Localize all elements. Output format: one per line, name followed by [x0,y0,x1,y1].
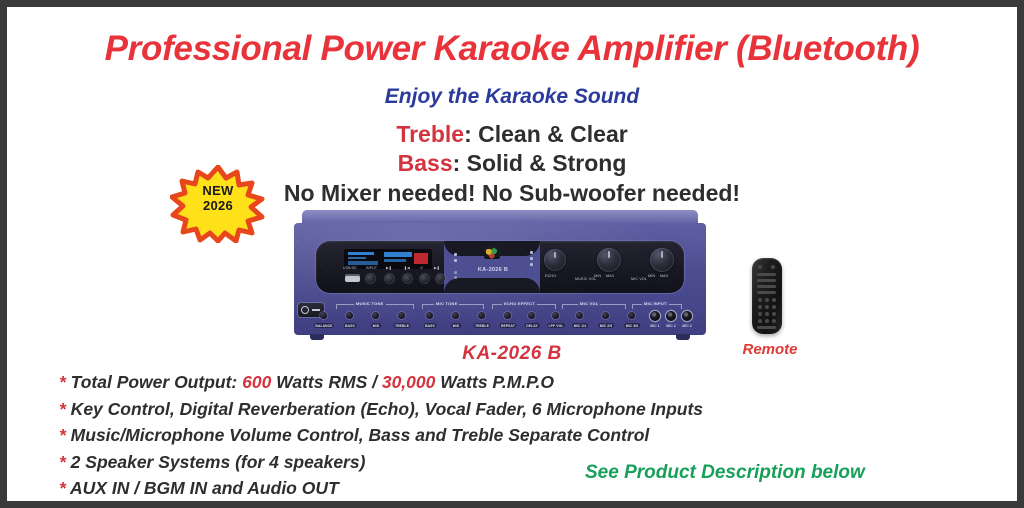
badge-text: NEW 2026 [170,184,266,213]
feature-item: * Music/Microphone Volume Control, Bass … [59,422,759,449]
model-caption: KA-2026 B [7,343,1017,365]
feature-text: Key Control, Digital Reverberation (Echo… [66,399,703,419]
bass-line: Bass: Solid & Strong [7,149,1017,178]
bullet-asterisk-icon: * [59,478,66,498]
knob-echo-repeat[interactable] [504,312,511,319]
amplifier-product-image: USB/SD INPUT ▶❚ ❚◀ ↺ ▶❚ KA-2026 B ECHO M… [294,210,706,340]
new-2026-badge: NEW 2026 [170,165,266,243]
feature-text: 2 Speaker Systems (for 4 speakers) [66,452,366,472]
amplifier-foot-right [676,334,690,340]
knob-mic3-vol[interactable] [628,312,635,319]
knob-music-volume[interactable] [597,248,621,272]
knob-balance[interactable] [320,312,327,319]
knob-mic-treble[interactable] [478,312,485,319]
amplifier-foot-left [310,334,324,340]
subtitle: Enjoy the Karaoke Sound [7,85,1017,109]
bullet-asterisk-icon: * [59,399,66,419]
feature-text: Watts RMS / [271,372,382,392]
treble-line: Treble: Clean & Clear [7,120,1017,149]
banner-canvas: Professional Power Karaoke Amplifier (Bl… [7,7,1017,501]
media-button-repeat[interactable] [420,274,429,283]
feature-item: * Total Power Output: 600 Watts RMS / 30… [59,369,759,396]
treble-label: Treble [396,121,464,147]
feature-highlight-value: 30,000 [382,372,436,392]
see-description-text: See Product Description below [585,462,865,484]
badge-line-2: 2026 [170,199,266,214]
knob-mic-mid[interactable] [452,312,459,319]
treble-value: : Clean & Clear [464,121,628,147]
sound-spec-lines: Treble: Clean & Clear Bass: Solid & Stro… [7,120,1017,208]
bullet-asterisk-icon: * [59,372,66,392]
usb-port[interactable] [345,274,360,282]
feature-text: Watts P.M.P.O [435,372,554,392]
media-button-play[interactable] [385,274,394,283]
knob-mic-bass[interactable] [426,312,433,319]
feature-text: Music/Microphone Volume Control, Bass an… [66,425,649,445]
mic-input-jack-3[interactable] [682,311,692,321]
mic-input-jack-2[interactable] [666,311,676,321]
media-button-next[interactable] [436,274,445,283]
knob-mic1-vol[interactable] [576,312,583,319]
brand-logo-icon [484,247,500,259]
page-title: Professional Power Karaoke Amplifier (Bl… [7,29,1017,69]
mic-input-jack-1[interactable] [650,311,660,321]
knob-echo-delay[interactable] [528,312,535,319]
feature-text: Total Power Output: [66,372,242,392]
media-button-input[interactable] [366,274,375,283]
advertisement-banner: Professional Power Karaoke Amplifier (Bl… [0,0,1024,508]
bullet-asterisk-icon: * [59,452,66,472]
remote-control-image: Remote [752,258,788,340]
knob-music-mid[interactable] [372,312,379,319]
front-panel-model-text: KA-2026 B [464,267,522,273]
feature-item: * Key Control, Digital Reverberation (Ec… [59,396,759,423]
knob-mic2-vol[interactable] [602,312,609,319]
bullet-asterisk-icon: * [59,425,66,445]
knob-music-treble[interactable] [398,312,405,319]
badge-line-1: NEW [170,184,266,199]
feature-text: AUX IN / BGM IN and Audio OUT [66,478,339,498]
remote-label: Remote [732,341,808,358]
knob-mic-volume[interactable] [650,248,674,272]
knob-music-bass[interactable] [346,312,353,319]
no-mixer-line: No Mixer needed! No Sub-woofer needed! [7,179,1017,208]
bass-label: Bass [398,150,453,176]
media-button-prev[interactable] [403,274,412,283]
feature-highlight-value: 600 [242,372,271,392]
remote-body [752,258,782,334]
bass-value: : Solid & Strong [453,150,627,176]
control-strip: MUSIC TONE MIC TONE ECHO EFFECT MIC VOL … [316,301,684,331]
knob-lpf-vol[interactable] [552,312,559,319]
amplifier-chassis: USB/SD INPUT ▶❚ ❚◀ ↺ ▶❚ KA-2026 B ECHO M… [294,223,706,335]
knob-echo[interactable] [544,249,566,271]
